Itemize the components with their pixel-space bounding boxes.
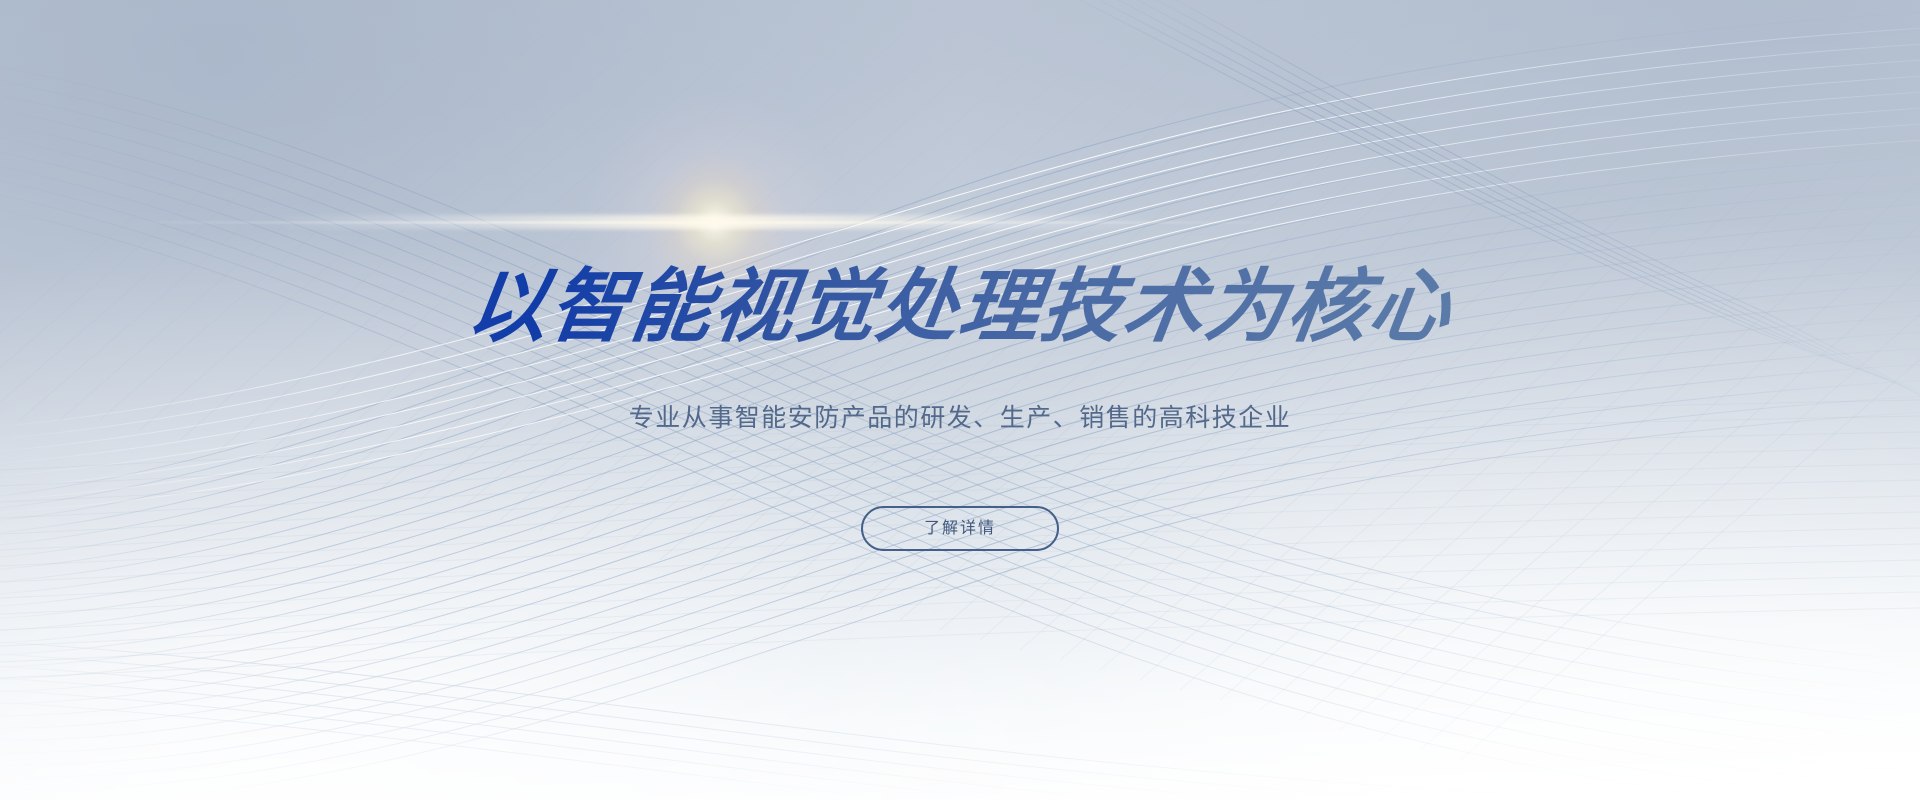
hero-headline: 以智能视觉处理技术为核心 xyxy=(0,262,1920,352)
hero-subtitle: 专业从事智能安防产品的研发、生产、销售的高科技企业 xyxy=(0,400,1920,436)
hero-content: 以智能视觉处理技术为核心 专业从事智能安防产品的研发、生产、销售的高科技企业 了… xyxy=(0,0,1920,800)
hero-banner: 以智能视觉处理技术为核心 专业从事智能安防产品的研发、生产、销售的高科技企业 了… xyxy=(0,0,1920,800)
learn-more-button[interactable]: 了解详情 xyxy=(861,506,1059,551)
hero-cta-wrapper: 了解详情 xyxy=(0,506,1920,551)
